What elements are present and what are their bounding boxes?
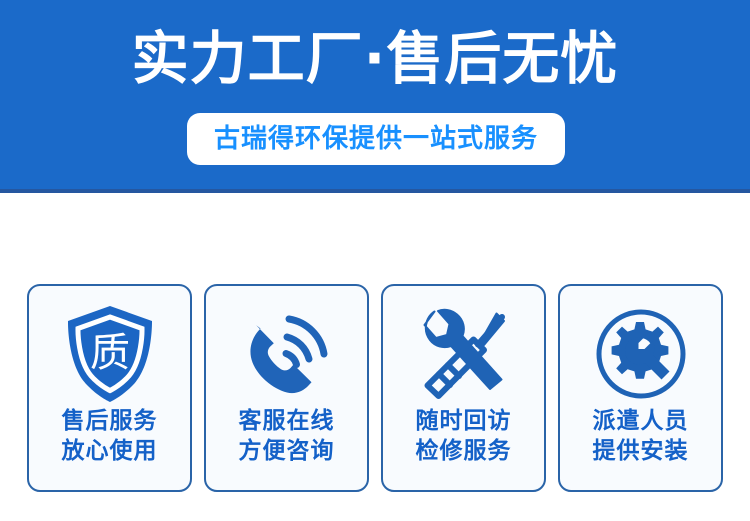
feature-card-row: 质 售后服务 放心使用: [27, 284, 723, 492]
feature-card-label-line2: 提供安装: [560, 436, 721, 466]
feature-card-online-service[interactable]: 客服在线 方便咨询: [204, 284, 369, 492]
feature-card-maintenance[interactable]: 随时回访 检修服务: [381, 284, 546, 492]
wrench-screwdriver-icon: [383, 302, 544, 406]
feature-card-label: 售后服务 放心使用: [29, 406, 190, 466]
feature-card-installation[interactable]: 派遣人员 提供安装: [558, 284, 723, 492]
feature-card-label-line2: 方便咨询: [206, 436, 367, 466]
shield-quality-icon: 质: [29, 302, 190, 406]
feature-card-label-line2: 放心使用: [29, 436, 190, 466]
feature-card-label-line1: 售后服务: [62, 407, 158, 434]
feature-card-label-line1: 客服在线: [239, 407, 335, 434]
feature-card-after-sales[interactable]: 质 售后服务 放心使用: [27, 284, 192, 492]
feature-card-label: 客服在线 方便咨询: [206, 406, 367, 466]
page-title: 实力工厂·售后无忧: [0, 25, 750, 93]
feature-card-label-line2: 检修服务: [383, 436, 544, 466]
feature-card-label: 派遣人员 提供安装: [560, 406, 721, 466]
hero-banner: 实力工厂·售后无忧 古瑞得环保提供一站式服务: [0, 0, 750, 193]
promo-banner-page: 实力工厂·售后无忧 古瑞得环保提供一站式服务 质 售后服务 放心使用: [0, 0, 750, 521]
phone-ringing-icon: [206, 302, 367, 406]
feature-card-label: 随时回访 检修服务: [383, 406, 544, 466]
subtitle-pill: 古瑞得环保提供一站式服务: [187, 113, 565, 165]
banner-bottom-rule: [0, 189, 750, 193]
subtitle-text: 古瑞得环保提供一站式服务: [214, 126, 538, 152]
feature-card-label-line1: 派遣人员: [593, 407, 689, 434]
gear-wrench-circle-icon: [560, 302, 721, 406]
svg-text:质: 质: [90, 330, 130, 376]
feature-card-label-line1: 随时回访: [416, 407, 512, 434]
